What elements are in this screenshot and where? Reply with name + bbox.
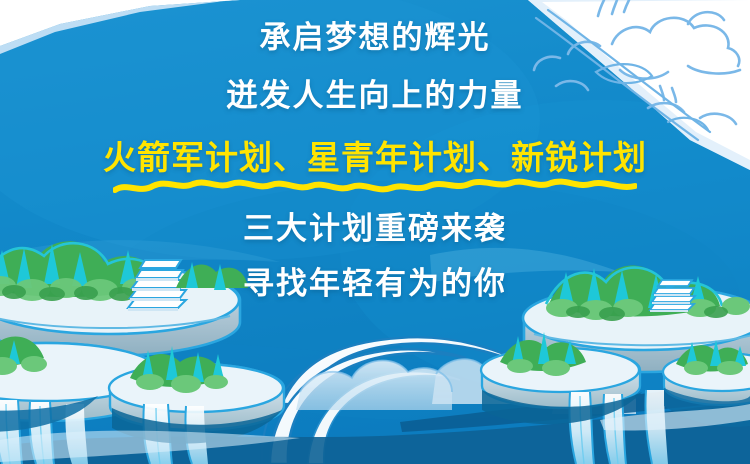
background-illustration <box>0 0 750 464</box>
promo-banner: 承启梦想的辉光 迸发人生向上的力量 火箭军计划、星青年计划、新锐计划 三大计划重… <box>0 0 750 464</box>
